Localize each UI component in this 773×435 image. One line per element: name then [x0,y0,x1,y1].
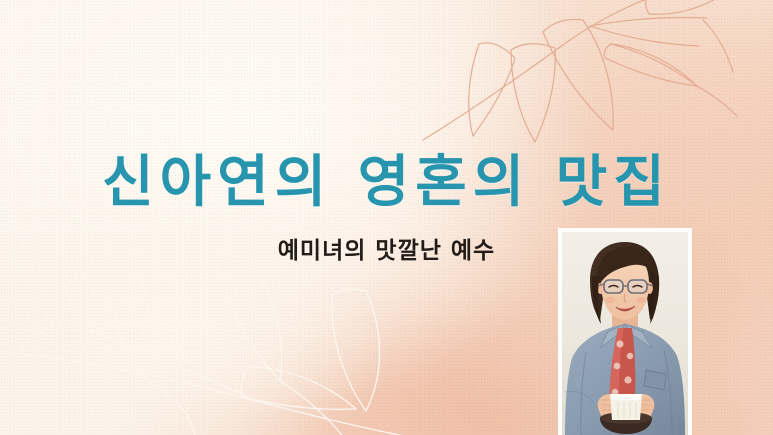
slide-canvas: 신아연의 영혼의 맛집 예미녀의 맛깔난 예수 [0,0,773,435]
host-portrait-image [562,232,688,435]
page-title: 신아연의 영혼의 맛집 [0,155,773,211]
host-portrait-frame [558,228,692,435]
